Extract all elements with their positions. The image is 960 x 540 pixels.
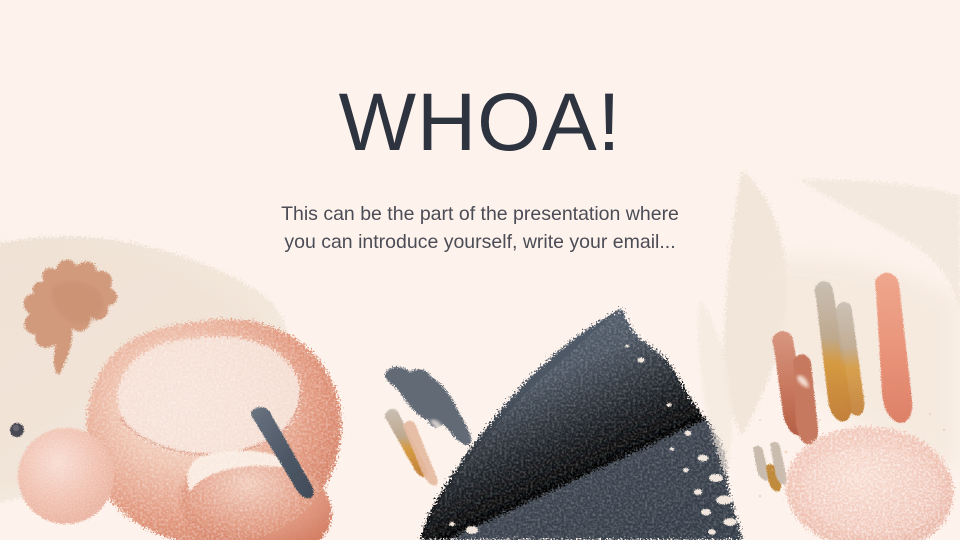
gray-dot	[10, 423, 24, 437]
page-title: WHOA!	[0, 82, 960, 164]
pink-circle	[18, 428, 114, 524]
salmon-large-blob	[86, 319, 341, 540]
slide-subtitle: This can be the part of the presentation…	[280, 200, 680, 257]
presentation-slide: WHOA! This can be the part of the presen…	[0, 0, 960, 540]
